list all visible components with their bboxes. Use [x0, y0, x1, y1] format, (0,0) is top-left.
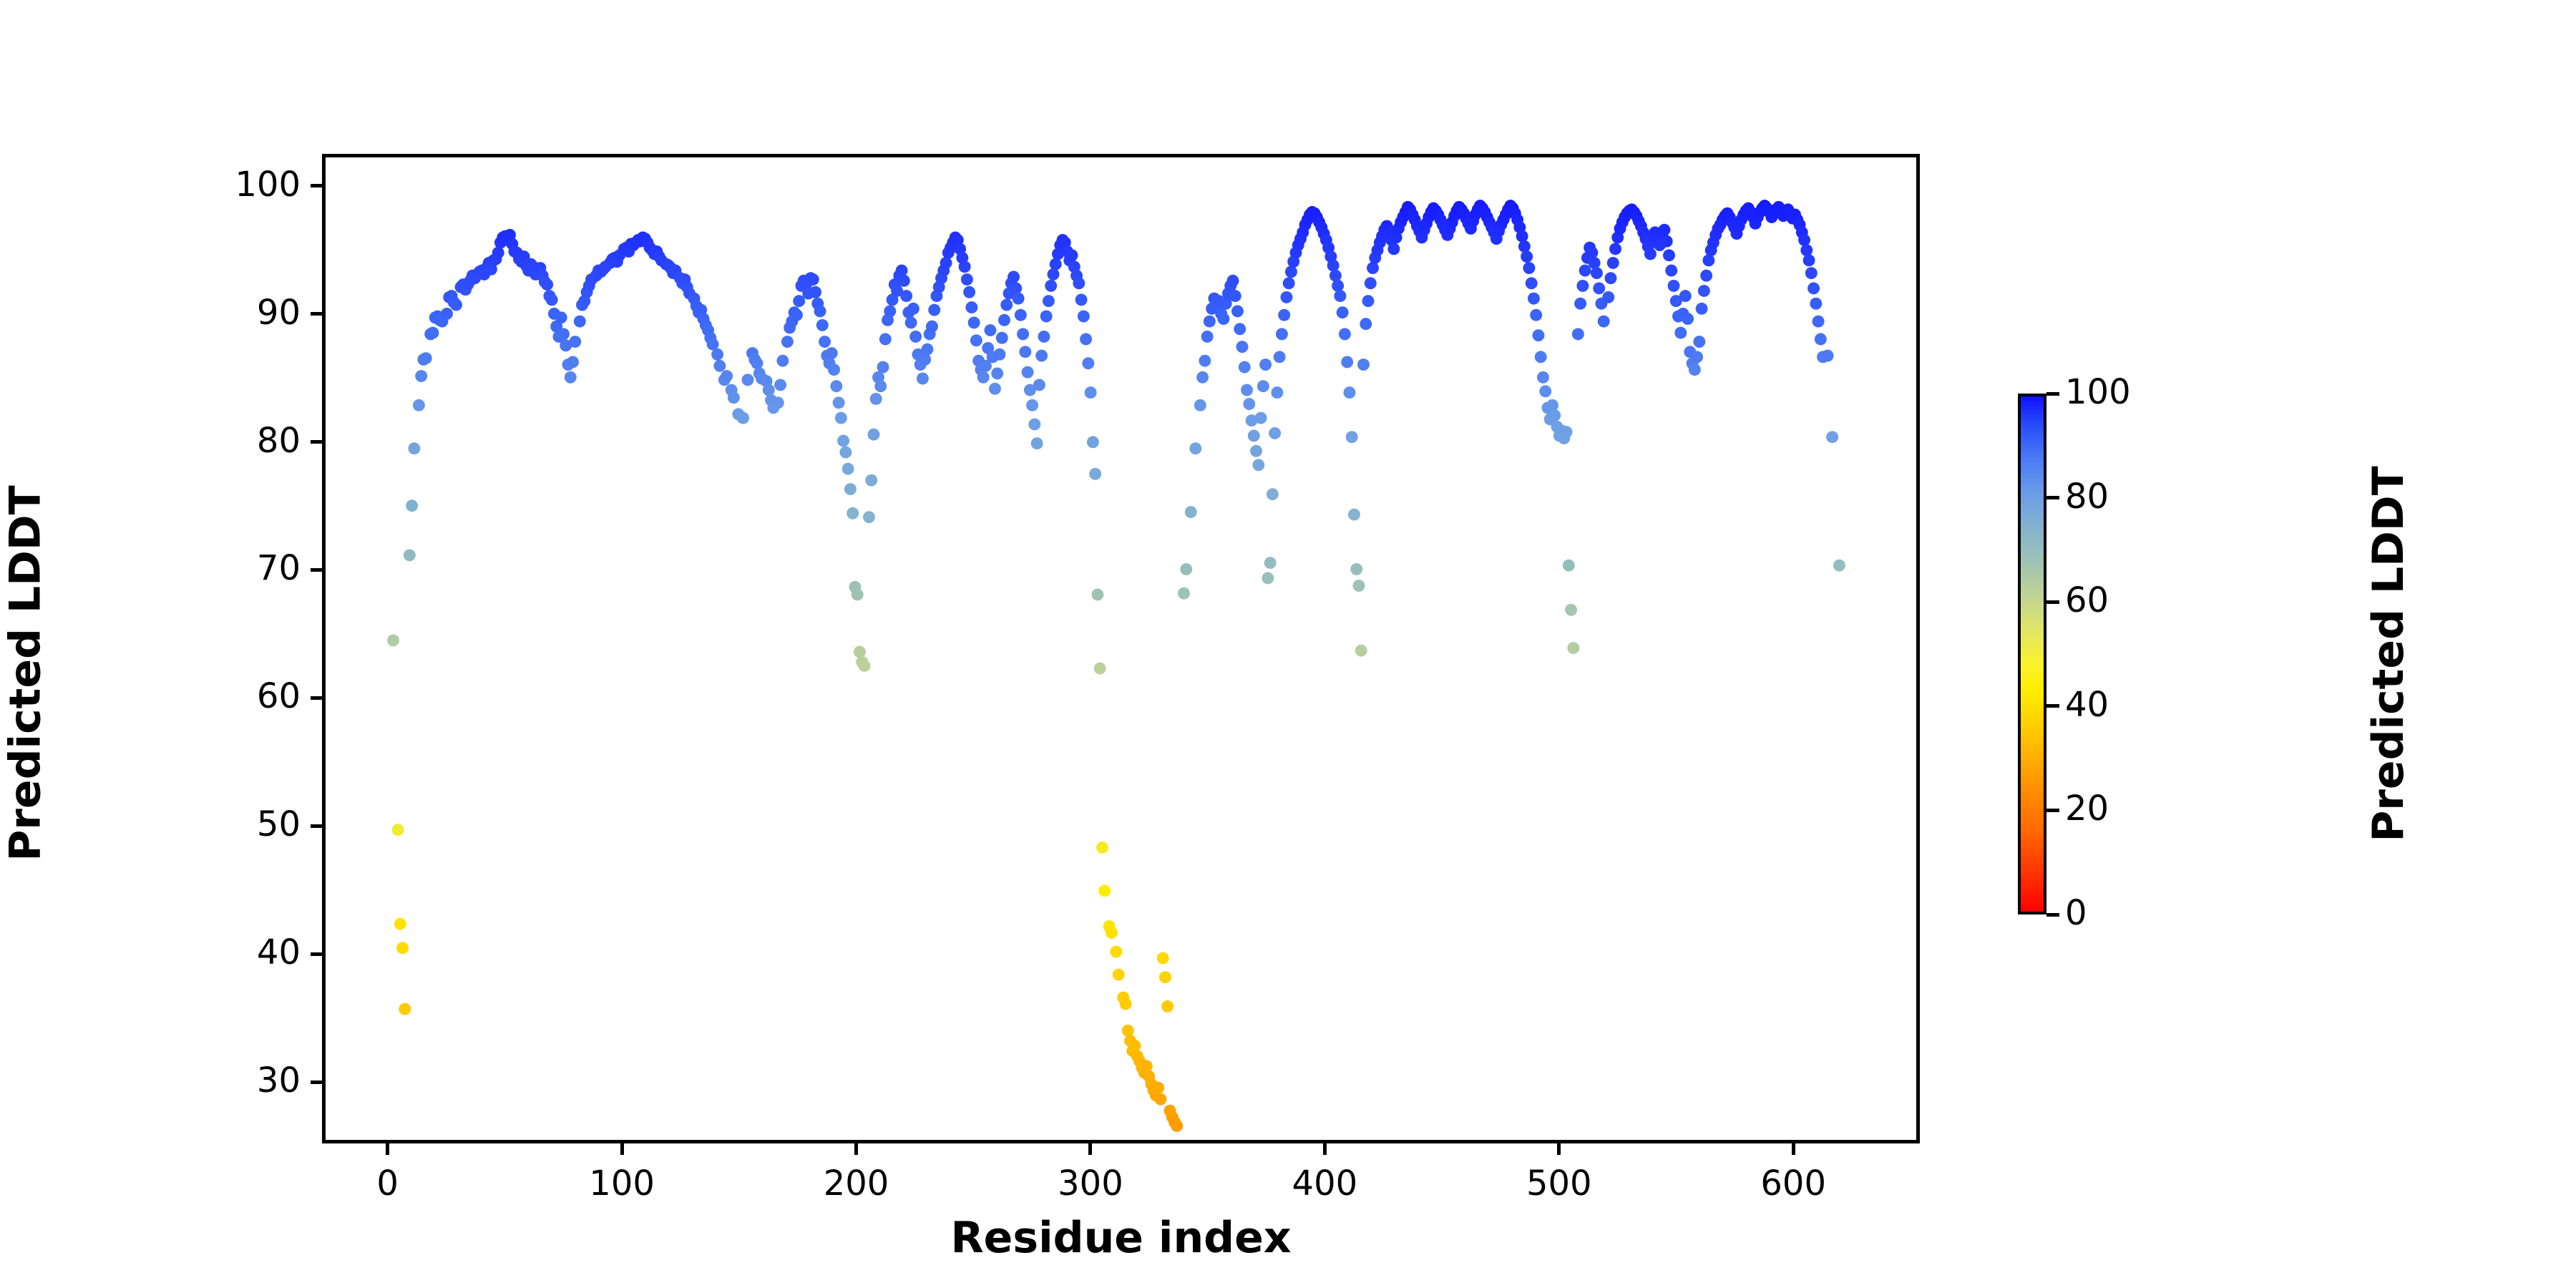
scatter-point — [970, 334, 982, 346]
scatter-point — [842, 463, 854, 475]
scatter-point — [835, 412, 847, 424]
scatter-point — [1267, 488, 1279, 500]
scatter-point — [816, 319, 829, 331]
scatter-point — [1096, 841, 1108, 854]
scatter-point — [1572, 328, 1584, 340]
scatter-point — [1532, 329, 1544, 341]
scatter-point — [404, 550, 416, 562]
scatter-point — [1598, 316, 1610, 328]
scatter-point — [557, 328, 570, 340]
y-tick-label: 90 — [186, 296, 301, 330]
colorbar-tick-mark — [2046, 913, 2059, 917]
scatter-point — [1348, 509, 1360, 521]
scatter-point — [1239, 361, 1251, 374]
scatter-point — [1048, 268, 1060, 280]
scatter-point — [1250, 445, 1262, 457]
scatter-point — [408, 442, 420, 454]
scatter-point — [1091, 589, 1103, 601]
y-tick-mark — [311, 1080, 322, 1084]
x-tick-mark — [1323, 1143, 1327, 1155]
x-tick-mark — [854, 1143, 858, 1155]
x-tick-label: 100 — [557, 1166, 686, 1201]
x-tick-label: 600 — [1729, 1166, 1858, 1201]
scatter-point — [863, 511, 875, 523]
scatter-point — [1537, 371, 1549, 384]
scatter-point — [492, 247, 504, 259]
scatter-point — [965, 301, 977, 313]
scatter-point — [1008, 271, 1020, 283]
scatter-point — [1050, 258, 1062, 270]
scatter-point — [1026, 399, 1038, 411]
scatter-point — [1696, 303, 1708, 315]
scatter-point — [1805, 267, 1818, 279]
scatter-point — [1833, 560, 1845, 572]
scatter-point — [396, 942, 409, 954]
scatter-point — [1387, 243, 1400, 255]
scatter-point — [998, 314, 1010, 326]
scatter-point — [1693, 336, 1705, 348]
scatter-point — [1038, 331, 1050, 343]
colorbar-tick-mark — [2046, 600, 2059, 604]
y-tick-label: 60 — [186, 679, 301, 713]
scatter-point — [1000, 299, 1013, 311]
colorbar-tick-label: 100 — [2065, 375, 2131, 409]
scatter-point — [1141, 1060, 1153, 1073]
scatter-point — [1330, 270, 1342, 282]
scatter-point — [1518, 240, 1531, 253]
scatter-point — [1231, 305, 1244, 317]
scatter-point — [1609, 243, 1621, 255]
scatter-point — [828, 364, 840, 376]
scatter-point — [1665, 265, 1677, 277]
scatter-point — [1248, 430, 1260, 442]
scatter-point — [1565, 604, 1577, 616]
scatter-point — [1607, 257, 1619, 269]
scatter-point — [1360, 318, 1372, 330]
scatter-point — [959, 260, 971, 273]
y-tick-label: 40 — [186, 935, 301, 970]
scatter-point — [763, 384, 775, 396]
colorbar-tick-label: 0 — [2065, 896, 2087, 930]
scatter-point — [1357, 358, 1370, 371]
scatter-point — [1113, 969, 1125, 981]
scatter-point — [1563, 560, 1575, 572]
scatter-point — [1098, 884, 1111, 897]
scatter-point — [852, 589, 864, 601]
scatter-point — [1815, 333, 1827, 346]
scatter-point — [1365, 277, 1377, 289]
scatter-point — [1689, 364, 1701, 376]
scatter-point — [1343, 386, 1355, 399]
scatter-point — [1280, 291, 1292, 303]
x-axis-label: Residue index — [322, 1216, 1920, 1259]
scatter-point — [1691, 351, 1703, 363]
scatter-point — [1526, 277, 1538, 289]
scatter-point — [1075, 293, 1088, 306]
scatter-point — [1355, 645, 1367, 657]
scatter-point — [1082, 357, 1094, 369]
scatter-point — [721, 370, 733, 382]
scatter-point — [793, 295, 805, 307]
scatter-point — [1516, 230, 1528, 243]
scatter-point — [847, 507, 859, 519]
scatter-point — [541, 278, 553, 291]
scatter-point — [1339, 328, 1351, 340]
scatter-point — [1040, 311, 1053, 323]
scatter-point — [555, 311, 567, 323]
colorbar-tick-label: 60 — [2065, 583, 2109, 618]
scatter-point — [1045, 280, 1057, 292]
x-tick-mark — [1792, 1143, 1795, 1155]
y-tick-mark — [311, 440, 322, 444]
scatter-point — [1066, 249, 1078, 261]
scatter-point — [854, 645, 866, 658]
scatter-point — [1521, 250, 1533, 263]
scatter-point — [1129, 1040, 1141, 1052]
y-tick-label: 50 — [186, 807, 301, 841]
scatter-point — [814, 305, 826, 317]
scatter-point — [1028, 419, 1040, 431]
scatter-point — [961, 273, 973, 286]
scatter-point — [1035, 350, 1048, 362]
scatter-point — [415, 370, 427, 382]
scatter-point — [1171, 1120, 1183, 1132]
y-axis-label: Predicted LDDT — [1, 179, 51, 1169]
y-tick-mark — [311, 696, 322, 700]
colorbar-tick-mark — [2046, 809, 2059, 812]
scatter-point — [406, 499, 418, 512]
scatter-point — [1262, 572, 1274, 584]
scatter-point — [1341, 356, 1353, 369]
scatter-point — [1019, 346, 1031, 358]
scatter-point — [567, 356, 579, 369]
scatter-point — [1161, 1000, 1174, 1013]
scatter-point — [1523, 262, 1535, 274]
colorbar-tick-label: 20 — [2065, 791, 2109, 826]
scatter-point — [1530, 309, 1542, 321]
scatter-point — [1229, 290, 1241, 302]
scatter-point — [1539, 385, 1551, 397]
scatter-point — [1700, 270, 1712, 282]
scatter-layer — [326, 157, 1916, 1140]
scatter-point — [1234, 323, 1246, 335]
scatter-point — [1185, 506, 1197, 518]
scatter-point — [917, 373, 929, 385]
scatter-point — [1803, 254, 1815, 266]
scatter-point — [776, 355, 789, 367]
scatter-point — [807, 273, 819, 286]
scatter-point — [858, 660, 870, 672]
scatter-point — [1798, 234, 1810, 246]
scatter-point — [1546, 399, 1558, 411]
y-tick-mark — [311, 824, 322, 828]
scatter-point — [1276, 328, 1288, 340]
scatter-point — [879, 333, 892, 346]
scatter-point — [742, 374, 754, 386]
scatter-point — [711, 348, 723, 361]
scatter-point — [837, 435, 849, 447]
scatter-point — [1800, 244, 1813, 256]
scatter-point — [874, 380, 887, 392]
scatter-point — [1080, 333, 1092, 346]
scatter-point — [1682, 313, 1694, 325]
plot-page: Predicted LDDT 10090807060504030 0100200… — [0, 0, 2576, 1288]
scatter-point — [413, 399, 425, 411]
scatter-point — [1702, 254, 1714, 266]
scatter-point — [896, 265, 908, 277]
scatter-point — [905, 316, 917, 328]
scatter-point — [1327, 260, 1340, 272]
x-tick-mark — [386, 1143, 389, 1155]
scatter-point — [1201, 331, 1214, 343]
scatter-point — [1663, 249, 1675, 261]
scatter-point — [1089, 468, 1101, 480]
scatter-point — [1152, 1082, 1164, 1094]
scatter-point — [1346, 431, 1358, 443]
scatter-point — [1022, 366, 1034, 379]
colorbar-gradient — [2018, 394, 2046, 914]
scatter-point — [1159, 971, 1171, 983]
scatter-point — [1591, 267, 1603, 279]
colorbar-tick-label: 80 — [2065, 479, 2109, 514]
scatter-point — [1602, 291, 1614, 303]
scatter-point — [1362, 295, 1375, 307]
scatter-point — [968, 316, 980, 328]
scatter-point — [1528, 293, 1540, 305]
scatter-point — [713, 360, 726, 372]
scatter-point — [1199, 355, 1211, 367]
scatter-point — [394, 918, 406, 930]
scatter-point — [991, 368, 1003, 380]
scatter-point — [900, 290, 912, 302]
scatter-point — [1178, 587, 1190, 600]
scatter-point — [1017, 328, 1029, 340]
colorbar-tick-mark — [2046, 392, 2059, 396]
scatter-point — [830, 380, 842, 392]
scatter-point — [1122, 1025, 1134, 1037]
scatter-point — [1236, 341, 1249, 353]
scatter-point — [774, 379, 786, 391]
scatter-point — [926, 321, 938, 333]
scatter-point — [1813, 316, 1825, 328]
scatter-point — [909, 331, 922, 343]
scatter-point — [565, 371, 577, 384]
scatter-point — [426, 327, 439, 339]
scatter-point — [994, 348, 1006, 361]
scatter-point — [1586, 247, 1598, 259]
y-tick-label: 80 — [186, 424, 301, 458]
scatter-point — [1241, 384, 1253, 396]
scatter-point — [1334, 290, 1346, 302]
scatter-point — [387, 635, 399, 647]
y-tick-mark — [311, 184, 322, 187]
scatter-point — [1015, 309, 1027, 321]
scatter-point — [1283, 277, 1295, 289]
x-tick-label: 400 — [1260, 1166, 1389, 1201]
x-tick-label: 300 — [1026, 1166, 1155, 1201]
scatter-point — [1674, 327, 1687, 339]
scatter-point — [1561, 426, 1573, 438]
scatter-point — [1196, 371, 1209, 384]
scatter-point — [1154, 1093, 1166, 1106]
scatter-point — [1111, 946, 1123, 958]
scatter-point — [772, 396, 784, 409]
scatter-point — [1013, 293, 1025, 305]
scatter-point — [1576, 280, 1589, 292]
scatter-point — [1826, 431, 1838, 443]
scatter-point — [1010, 283, 1022, 295]
y-tick-label: 30 — [186, 1063, 301, 1098]
scatter-point — [1157, 952, 1169, 965]
scatter-point — [1106, 927, 1118, 939]
scatter-point — [1659, 224, 1671, 236]
scatter-point — [1822, 350, 1834, 362]
scatter-point — [985, 324, 997, 336]
y-tick-mark — [311, 952, 322, 956]
scatter-point — [1226, 275, 1239, 287]
scatter-point — [921, 343, 933, 356]
scatter-point — [1094, 663, 1106, 675]
scatter-point — [989, 383, 1001, 395]
scatter-point — [1661, 235, 1673, 248]
y-tick-label: 100 — [186, 167, 301, 202]
colorbar: 100806040200 Predicted LDDT — [2018, 394, 2046, 914]
scatter-point — [1332, 280, 1344, 292]
scatter-point — [1255, 412, 1267, 424]
scatter-point — [1271, 386, 1283, 399]
scatter-point — [877, 361, 889, 374]
scatter-point — [1353, 580, 1365, 592]
scatter-point — [728, 391, 740, 404]
scatter-point — [919, 353, 931, 366]
scatter-point — [1087, 436, 1099, 448]
scatter-point — [996, 332, 1008, 344]
scatter-point — [392, 824, 404, 836]
scatter-point — [868, 429, 880, 441]
x-tick-mark — [620, 1143, 624, 1155]
scatter-point — [1350, 563, 1362, 575]
scatter-point — [1078, 311, 1090, 323]
scatter-point — [1567, 642, 1579, 654]
y-tick-mark — [311, 568, 322, 572]
scatter-point — [819, 336, 831, 348]
scatter-point — [1194, 399, 1206, 411]
scatter-point — [1679, 290, 1692, 302]
scatter-point — [1204, 316, 1216, 328]
scatter-point — [1579, 265, 1591, 277]
scatter-point — [1644, 248, 1657, 260]
scatter-point — [1033, 379, 1045, 391]
x-tick-mark — [1088, 1143, 1092, 1155]
scatter-point — [1668, 280, 1680, 292]
scatter-point — [884, 305, 896, 317]
scatter-point — [1807, 283, 1820, 295]
scatter-point — [1120, 998, 1132, 1010]
scatter-point — [399, 1003, 411, 1015]
scatter-point — [1269, 427, 1281, 439]
scatter-point — [781, 336, 794, 348]
scatter-point — [1252, 459, 1264, 471]
x-tick-label: 500 — [1495, 1166, 1624, 1201]
colorbar-tick-mark — [2046, 704, 2059, 708]
scatter-point — [1367, 262, 1379, 274]
x-tick-mark — [1557, 1143, 1561, 1155]
scatter-point — [977, 371, 990, 384]
scatter-point — [1548, 409, 1561, 421]
scatter-point — [1259, 358, 1272, 371]
scatter-point — [1217, 313, 1229, 325]
scatter-point — [1189, 442, 1201, 454]
scatter-point — [907, 303, 919, 315]
scatter-point — [1605, 272, 1617, 284]
scatter-point — [1278, 309, 1290, 321]
scatter-point — [1574, 298, 1586, 310]
scatter-point — [1243, 398, 1255, 410]
scatter-point — [898, 275, 910, 287]
scatter-point — [928, 304, 940, 316]
scatter-point — [574, 316, 586, 328]
scatter-point — [1593, 283, 1605, 295]
scatter-point — [1274, 351, 1286, 363]
scatter-point — [1043, 295, 1055, 307]
scatter-point — [809, 286, 821, 298]
scatter-point — [826, 347, 838, 359]
scatter-point — [1337, 306, 1349, 318]
scatter-point — [1220, 298, 1232, 310]
scatter-point — [1073, 277, 1085, 289]
scatter-point — [844, 483, 857, 495]
scatter-point — [737, 412, 749, 424]
scatter-point — [1085, 386, 1097, 399]
scatter-point — [546, 293, 558, 306]
scatter-point — [963, 286, 975, 298]
scatter-point — [1810, 298, 1822, 310]
scatter-point — [1264, 557, 1277, 569]
scatter-point — [751, 357, 763, 369]
scatter-point — [569, 336, 581, 348]
x-tick-label: 0 — [323, 1166, 452, 1201]
scatter-point — [791, 309, 803, 321]
scatter-point — [1698, 285, 1710, 297]
x-tick-label: 200 — [792, 1166, 921, 1201]
colorbar-tick-label: 40 — [2065, 688, 2109, 722]
y-tick-mark — [311, 312, 322, 316]
scatter-point — [1257, 380, 1269, 392]
scatter-point — [1285, 265, 1297, 278]
scatter-point — [833, 396, 845, 409]
scatter-point — [450, 299, 462, 311]
scatter-point — [441, 308, 453, 320]
scatter-point — [1031, 437, 1043, 449]
scatter-point — [1180, 563, 1192, 575]
scatter-point — [1589, 257, 1601, 269]
scatter-point — [420, 352, 432, 364]
colorbar-label: Predicted LDDT — [2363, 394, 2414, 914]
colorbar-tick-mark — [2046, 496, 2059, 499]
plot-area — [322, 154, 1920, 1143]
scatter-point — [1535, 351, 1547, 363]
scatter-point — [870, 393, 882, 405]
scatter-point — [865, 474, 877, 487]
scatter-point — [839, 447, 852, 459]
y-tick-label: 70 — [186, 551, 301, 585]
scatter-point — [940, 257, 952, 269]
